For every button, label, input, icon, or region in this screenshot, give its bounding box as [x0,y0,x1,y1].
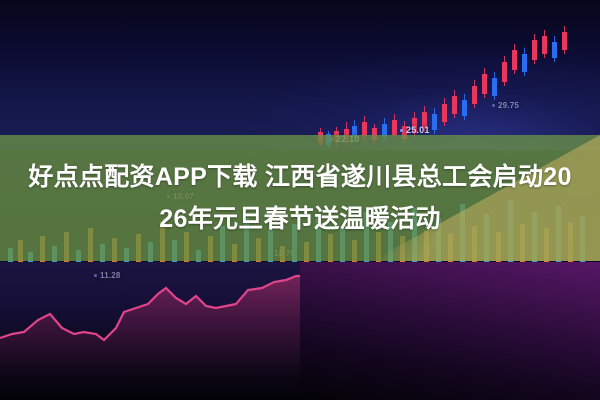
price-label-text: 29.75 [498,101,519,110]
price-label: 25.01 [400,125,430,135]
label-marker-dot [400,129,403,132]
price-label: 29.75 [492,101,519,110]
candle-body [482,74,487,94]
candle-body [532,40,537,60]
page-title-line-1: 好点点配资APP下载 江西省遂川县总工会启动20 [28,156,571,198]
candle-body [442,104,447,122]
page-title-line-2: 26年元旦春节送温暖活动 [159,198,440,240]
candle-body [512,50,517,70]
price-label-text: 11.28 [100,271,121,280]
candle-body [522,54,527,72]
area-panel-purple-gradient [300,262,600,400]
label-marker-dot [94,274,97,277]
screenshot-root: 10.0722.1025.0129.7518.7511.28 好点点配资APP下… [0,0,600,400]
candle-body [492,78,497,96]
candle-body [472,86,477,104]
candle-body [542,36,547,54]
candle-body [552,42,557,58]
page-title: 好点点配资APP下载 江西省遂川县总工会启动20 26年元旦春节送温暖活动 [0,135,600,261]
candle-body [462,100,467,116]
candle-body [502,62,507,82]
candle-body [392,120,397,135]
candle-body [362,122,367,136]
candle-body [432,114,437,130]
price-label-text: 25.01 [406,125,430,135]
candle-body [562,32,567,50]
price-label: 11.28 [94,271,121,280]
panel-glow [0,0,600,150]
label-marker-dot [492,104,495,107]
candle-body [452,96,457,114]
